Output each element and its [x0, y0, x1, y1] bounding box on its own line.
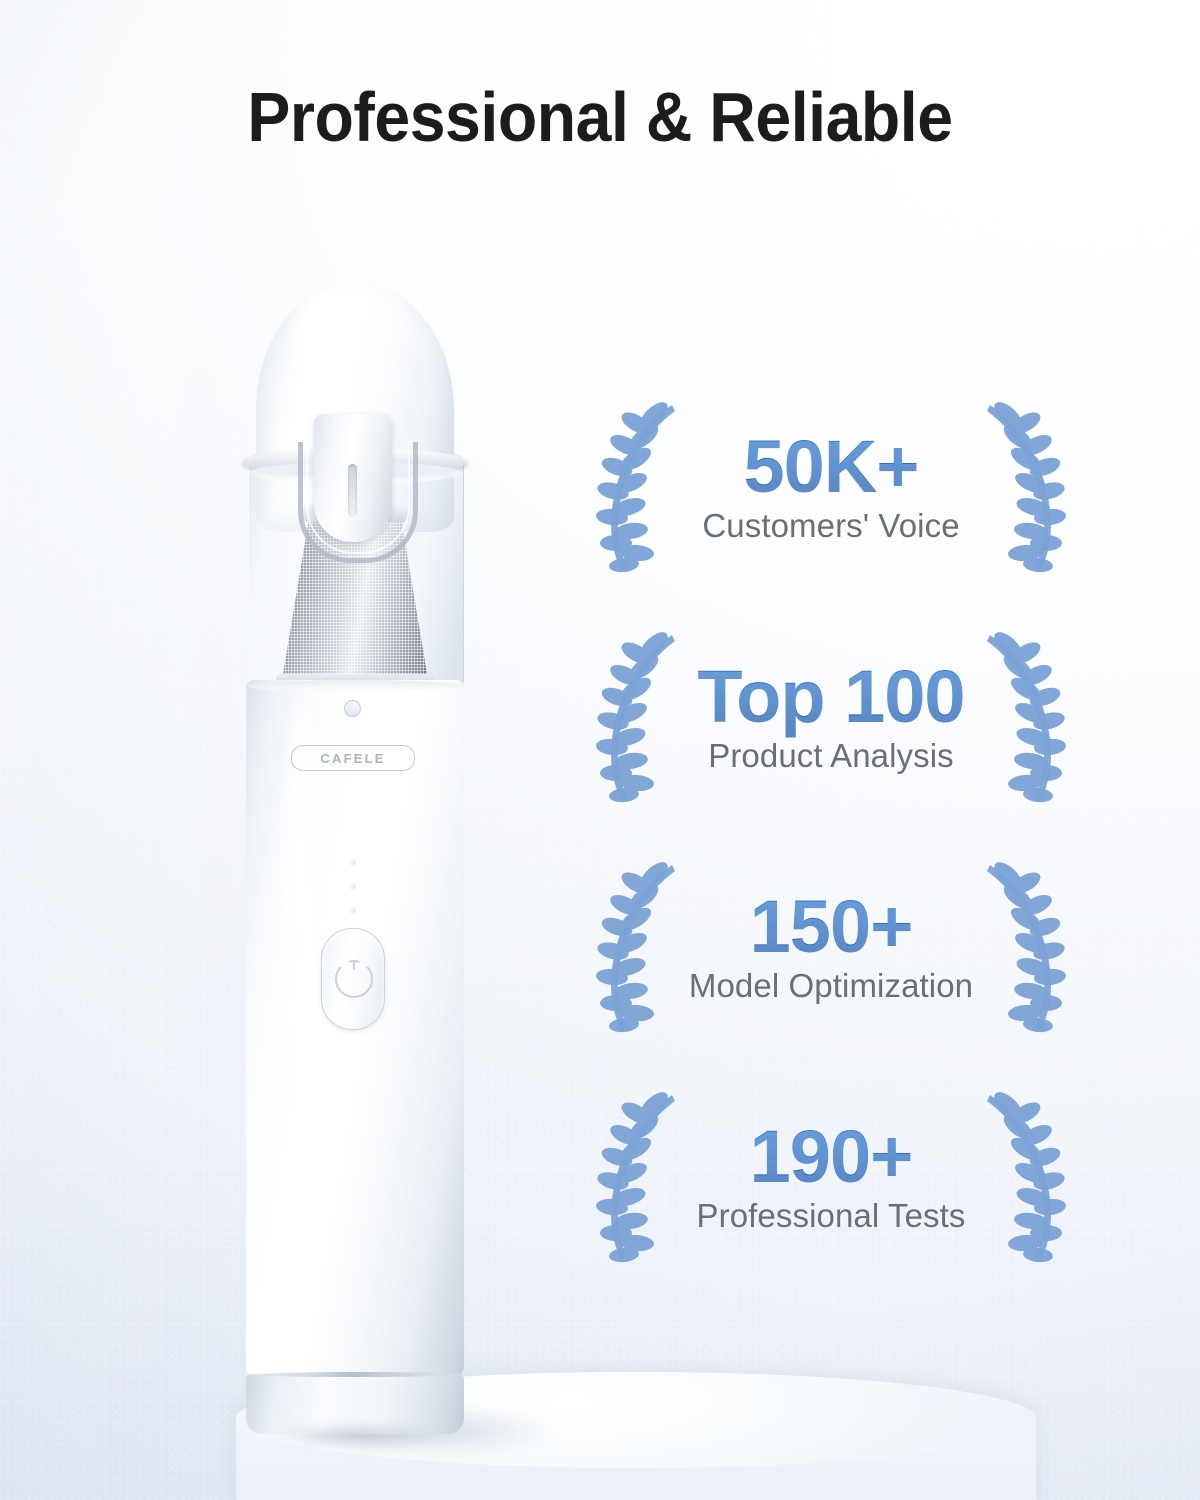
- laurel-wreath-icon: [974, 397, 1066, 577]
- product-marketing-banner: Professional & Reliable CAFELE: [0, 0, 1200, 1500]
- stat-text: 50K+ Customers' Voice: [666, 429, 996, 544]
- stat-item: 50K+ Customers' Voice: [596, 372, 1066, 602]
- stat-item: 150+ Model Optimization: [596, 832, 1066, 1062]
- stat-label: Customers' Voice: [666, 507, 996, 545]
- stat-value: 150+: [750, 885, 913, 968]
- stat-label: Model Optimization: [666, 967, 996, 1005]
- laurel-wreath-icon: [974, 1087, 1066, 1267]
- laurel-wreath-icon: [974, 857, 1066, 1037]
- stat-text: Top 100 Product Analysis: [666, 659, 996, 774]
- led-indicator-3: [349, 906, 356, 913]
- battery-indicator-leds: [339, 858, 365, 930]
- stat-text: 150+ Model Optimization: [666, 889, 996, 1004]
- stat-value: 50K+: [744, 425, 919, 508]
- laurel-wreath-icon: [596, 397, 688, 577]
- brand-logo-badge: CAFELE: [291, 745, 415, 771]
- vacuum-body: [246, 680, 464, 1380]
- body-seam-line: [246, 680, 464, 692]
- laurel-wreath-icon: [596, 1087, 688, 1267]
- stat-item: 190+ Professional Tests: [596, 1062, 1066, 1292]
- body-highlight: [284, 702, 320, 1322]
- laurel-wreath-icon: [596, 857, 688, 1037]
- laurel-wreath-icon: [974, 627, 1066, 807]
- stat-label: Product Analysis: [666, 737, 996, 775]
- product-contact-shadow: [242, 1420, 472, 1450]
- latch-slot: [348, 464, 357, 516]
- reset-pinhole-icon: [344, 700, 361, 717]
- led-indicator-2: [349, 882, 356, 889]
- stat-item: Top 100 Product Analysis: [596, 602, 1066, 832]
- stat-value: Top 100: [697, 655, 964, 738]
- stat-value: 190+: [750, 1115, 913, 1198]
- product-image-handheld-vacuum: CAFELE: [218, 282, 486, 1432]
- laurel-wreath-icon: [596, 627, 688, 807]
- page-title: Professional & Reliable: [48, 82, 1152, 152]
- body-bottom-seam: [246, 1372, 464, 1377]
- led-indicator-1: [349, 858, 356, 865]
- stat-label: Professional Tests: [666, 1197, 996, 1235]
- stat-text: 190+ Professional Tests: [666, 1119, 996, 1234]
- stats-list: 50K+ Customers' Voice: [596, 372, 1066, 1292]
